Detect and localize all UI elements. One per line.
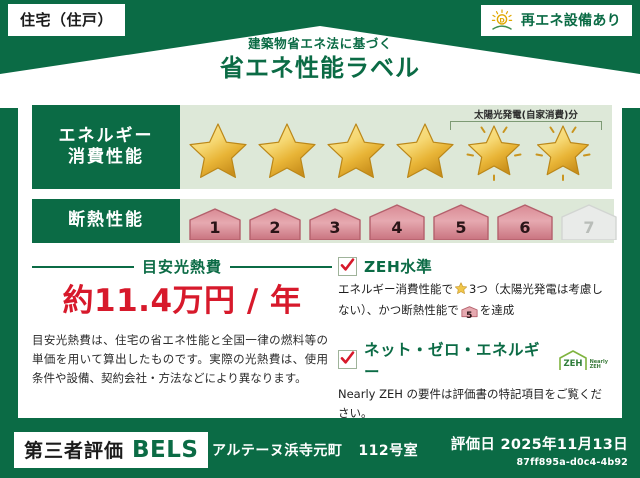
energy-performance-label: エネルギー 消費性能 — [32, 105, 180, 189]
bels-badge: 第三者評価 BELS — [14, 432, 208, 468]
insulation-level-number: 4 — [366, 218, 428, 237]
svg-text:ZEH: ZEH — [563, 359, 582, 369]
insulation-performance-field: 1 2 3 — [180, 199, 614, 243]
zeh-standard-title: ZEH水準 — [364, 255, 432, 277]
insulation-level-badge: 4 — [366, 203, 428, 240]
house-type-label: 住宅（住戸） — [20, 11, 113, 29]
insulation-performance-row: 断熱性能 1 — [32, 199, 614, 243]
check-icon — [338, 257, 357, 276]
zeh-body-part-3: を達成 — [480, 303, 515, 317]
insulation-level-badge: 2 — [246, 207, 304, 240]
insulation-level-number: 1 — [186, 218, 244, 237]
bels-energy-label: 住宅（住戸） D 再エネ設備あり 建築物省エネ法に基づく — [0, 0, 640, 478]
insulation-level-badge: 3 — [306, 207, 364, 240]
energy-performance-field: 太陽光発電(自家消費)分 — [180, 105, 612, 189]
insulation-level-number: 6 — [494, 218, 556, 237]
insulation-level-number: 5 — [430, 218, 492, 237]
zeh-body-part-1: エネルギー消費性能で — [338, 282, 453, 296]
zeh-logo-sub-line2: ZEH — [590, 364, 601, 370]
insulation-level-badge: 5 — [430, 203, 492, 240]
evaluation-date: 評価日 2025年11月13日 — [451, 433, 628, 454]
zeh-standard-body: エネルギー消費性能で3つ（太陽光発電は考慮しない）、かつ断熱性能で5を達成 — [338, 280, 608, 325]
star-solar-icon — [460, 117, 528, 183]
title-subtitle: 建築物省エネ法に基づく — [0, 38, 640, 51]
label-card: エネルギー 消費性能 太陽光発電(自家消費)分 — [18, 96, 622, 418]
insulation-label-text: 断熱性能 — [68, 210, 144, 231]
utility-cost-column: 目安光熱費 約11.4万円 / 年 目安光熱費は、住宅の省エネ性能と全国一律の燃… — [32, 254, 332, 404]
building-info: アルテーヌ浜寺元町 112号室 — [212, 440, 418, 460]
net-zero-energy-body: Nearly ZEH の要件は評価書の特記項目をご覧ください。 — [338, 385, 608, 424]
room-number: 112号室 — [358, 440, 418, 460]
title-main: 省エネ性能ラベル — [0, 56, 640, 80]
building-name: アルテーヌ浜寺元町 — [212, 440, 342, 460]
renewable-badge-label: 再エネ設備あり — [521, 10, 621, 30]
bels-jp-label: 第三者評価 — [24, 436, 124, 463]
rule-left — [32, 266, 134, 268]
utility-cost-heading: 目安光熱費 — [32, 256, 332, 277]
net-zero-energy-header: ネット・ゼロ・エネルギー ZEH Nearly ZEH — [338, 338, 608, 382]
energy-performance-row: エネルギー 消費性能 太陽光発電(自家消費)分 — [32, 105, 612, 189]
insulation-level-number: 7 — [558, 218, 620, 237]
utility-cost-heading-text: 目安光熱費 — [142, 256, 222, 277]
sun-icon: D — [489, 9, 515, 31]
star-icon — [391, 117, 459, 183]
net-zero-energy-title: ネット・ゼロ・エネルギー — [364, 338, 547, 382]
zeh-logo-subtext: Nearly ZEH — [590, 360, 608, 371]
evaluation-id: 87ff895a-d0c4-4b92 — [451, 457, 628, 468]
star-solar-icon — [529, 117, 597, 183]
check-icon — [338, 350, 357, 369]
insulation-level-badge-inactive: 7 — [558, 203, 620, 240]
inline-star-icon — [454, 284, 468, 298]
insulation-level-number: 3 — [306, 218, 364, 237]
renewable-energy-badge: D 再エネ設備あり — [481, 5, 632, 36]
insulation-level-scale: 1 2 3 — [186, 203, 620, 240]
zeh-standard-block: ZEH水準 エネルギー消費性能で3つ（太陽光発電は考慮しない）、かつ断熱性能で5… — [338, 255, 608, 325]
net-zero-energy-block: ネット・ゼロ・エネルギー ZEH Nearly ZEH — [338, 338, 608, 424]
star-icon — [184, 117, 252, 183]
star-icon — [253, 117, 321, 183]
inline-insulation-number: 5 — [461, 309, 478, 324]
insulation-level-badge: 6 — [494, 203, 556, 240]
label-footer: 第三者評価 BELS アルテーヌ浜寺元町 112号室 評価日 2025年11月1… — [0, 424, 640, 478]
bels-en-label: BELS — [132, 437, 198, 463]
star-rating — [184, 117, 597, 183]
insulation-level-badge: 1 — [186, 207, 244, 240]
insulation-performance-label: 断熱性能 — [32, 199, 180, 243]
utility-cost-value: 約11.4万円 / 年 — [32, 286, 332, 317]
star-icon — [322, 117, 390, 183]
label-title: 建築物省エネ法に基づく 省エネ性能ラベル — [0, 38, 640, 80]
inline-insulation-badge-icon: 5 — [461, 305, 478, 324]
utility-cost-note: 目安光熱費は、住宅の省エネ性能と全国一律の燃料等の単価を用いて算出したものです。… — [32, 331, 332, 388]
zeh-standard-header: ZEH水準 — [338, 255, 608, 277]
insulation-level-number: 2 — [246, 218, 304, 237]
energy-label-line1: エネルギー — [59, 126, 154, 147]
lower-section: 目安光熱費 約11.4万円 / 年 目安光熱費は、住宅の省エネ性能と全国一律の燃… — [32, 254, 608, 404]
zeh-column: ZEH水準 エネルギー消費性能で3つ（太陽光発電は考慮しない）、かつ断熱性能で5… — [332, 254, 608, 404]
house-type-badge: 住宅（住戸） — [8, 4, 125, 36]
rule-right — [230, 266, 332, 268]
zeh-logo-icon: ZEH Nearly ZEH — [558, 349, 608, 371]
zeh-body-part-stars: 3つ（太陽光発電 — [469, 282, 557, 296]
evaluation-info: 評価日 2025年11月13日 87ff895a-d0c4-4b92 — [451, 433, 628, 468]
svg-text:D: D — [499, 16, 504, 24]
energy-label-line2: 消費性能 — [68, 147, 144, 168]
